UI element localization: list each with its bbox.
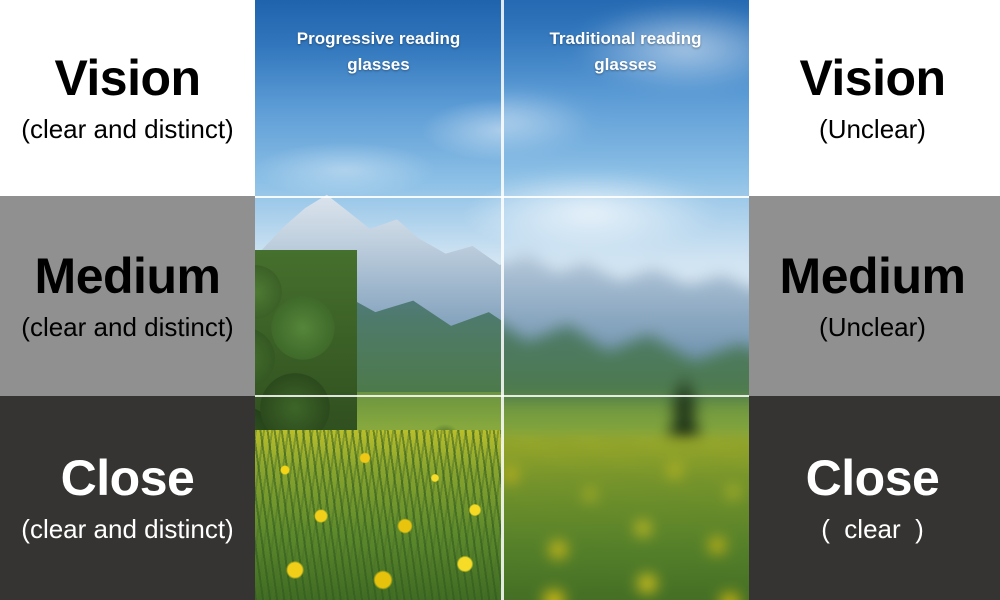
scene-close-sharp	[502, 397, 749, 600]
label-cell-vision-right: Vision (Unclear)	[745, 0, 1000, 196]
close-right-title: Close	[806, 452, 940, 505]
scene-sharp	[255, 0, 502, 600]
comparison-infographic: Progressive reading glasses Traditional …	[0, 0, 1000, 600]
vision-left-title: Vision	[54, 52, 200, 105]
medium-left-title: Medium	[35, 250, 221, 303]
label-cell-medium-right: Medium (Unclear)	[745, 196, 1000, 396]
dandelion-meadow	[502, 440, 749, 600]
vision-right-subtitle: (Unclear)	[819, 115, 926, 144]
medium-left-subtitle: (clear and distinct)	[21, 313, 233, 342]
photo-half-progressive	[255, 0, 502, 600]
label-cell-medium-left: Medium (clear and distinct)	[0, 196, 255, 396]
photo-half-traditional-close-zone	[502, 397, 749, 600]
label-cell-vision-left: Vision (clear and distinct)	[0, 0, 255, 196]
landscape-comparison-photo: Progressive reading glasses Traditional …	[255, 0, 749, 600]
close-left-subtitle: (clear and distinct)	[21, 515, 233, 544]
medium-right-title: Medium	[780, 250, 966, 303]
vision-right-title: Vision	[799, 52, 945, 105]
caption-traditional-reading-glasses: Traditional reading glasses	[518, 26, 733, 77]
vision-left-subtitle: (clear and distinct)	[21, 115, 233, 144]
label-cell-close-right: Close ( clear )	[745, 396, 1000, 600]
dandelion-meadow	[255, 430, 502, 600]
close-left-title: Close	[61, 452, 195, 505]
photo-horizontal-divider-line-lower	[255, 395, 749, 397]
close-right-subtitle: ( clear )	[821, 515, 924, 544]
caption-progressive-reading-glasses: Progressive reading glasses	[271, 26, 486, 77]
photo-vertical-divider-line	[501, 0, 504, 600]
photo-horizontal-divider-line-upper	[255, 196, 749, 198]
label-cell-close-left: Close (clear and distinct)	[0, 396, 255, 600]
medium-right-subtitle: (Unclear)	[819, 313, 926, 342]
